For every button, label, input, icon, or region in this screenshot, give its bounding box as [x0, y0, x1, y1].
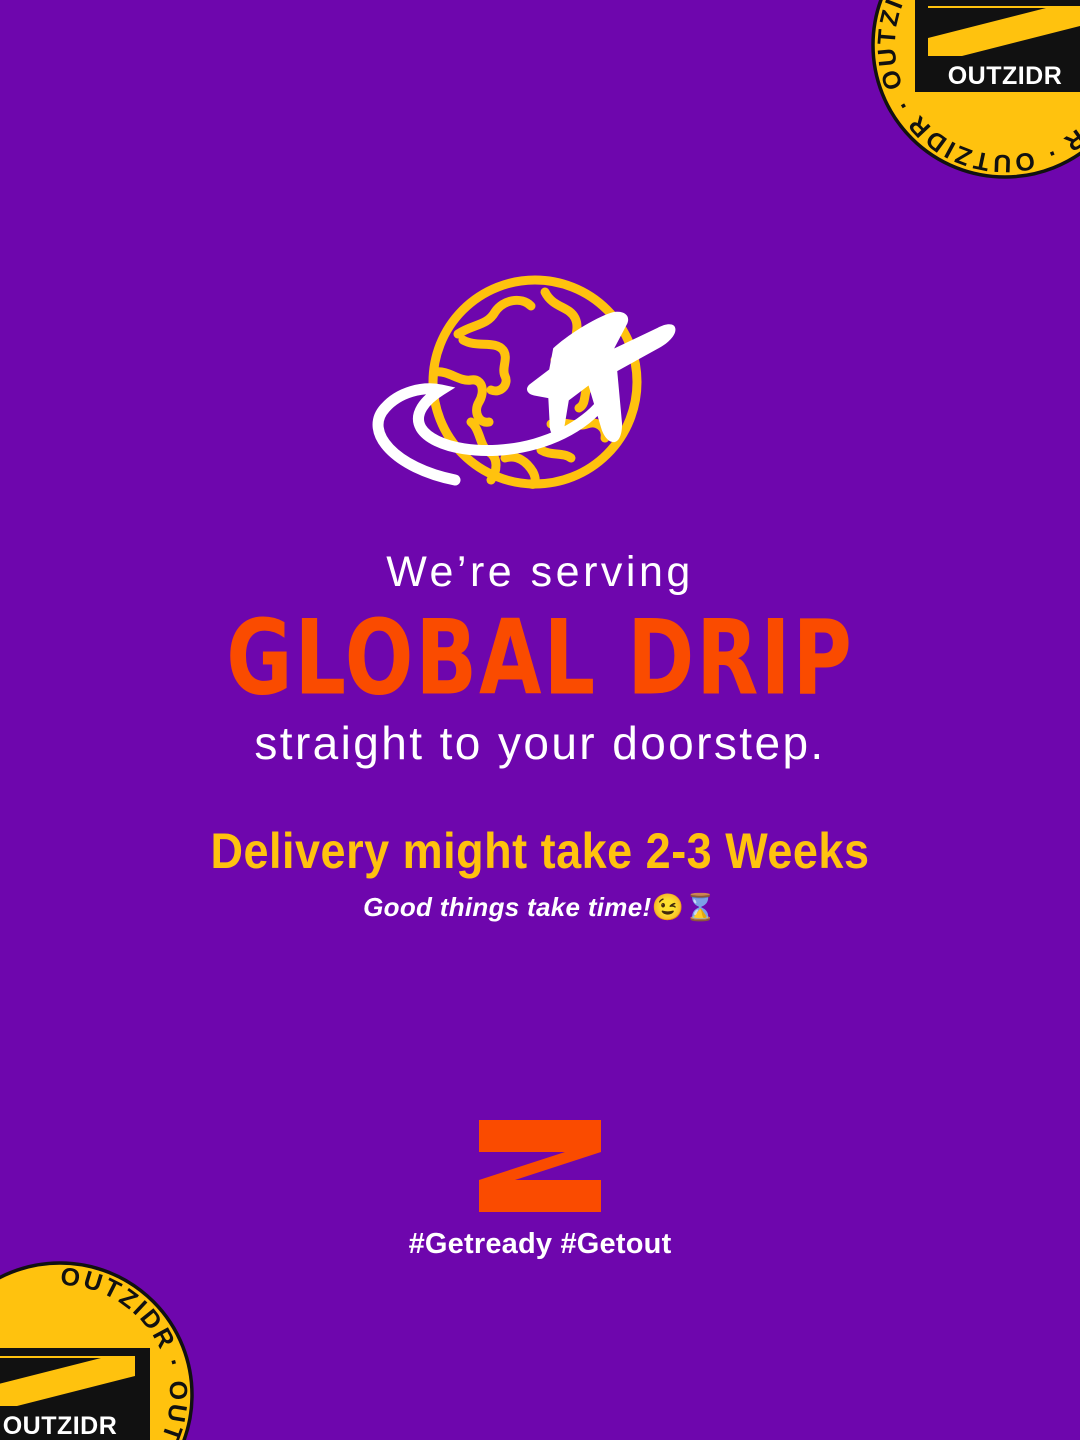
headline-line-3: straight to your doorstep.: [0, 717, 1080, 770]
headline-line-1: We’re serving: [0, 548, 1080, 597]
outzidr-sticker-top-right: OUTZIDR · OUTZIDR · OUTZIDR · OUTZIDR · …: [870, 0, 1080, 180]
outzidr-sticker-bottom-left: OUTZIDR · OUTZIDR · OUTZIDR · OUTZIDR · …: [0, 1260, 195, 1440]
headline-line-2-global-drip: GLOBAL DRIP: [0, 605, 1080, 711]
delivery-subtext: Good things take time!: [363, 892, 651, 922]
delivery-headline: Delivery might take 2-3 Weeks: [0, 822, 1080, 880]
footer-tagline: #Getready #Getout: [0, 1228, 1080, 1261]
badge-center-logo: OUTZIDR: [915, 0, 1080, 92]
headline-block: We’re serving GLOBAL DRIP straight to yo…: [0, 548, 1080, 770]
outzidr-z-mark-icon: [477, 1118, 603, 1214]
poster-canvas: OUTZIDR · OUTZIDR · OUTZIDR · OUTZIDR · …: [0, 0, 1080, 1440]
delivery-subtext-row: Good things take time!😉⌛: [0, 892, 1080, 923]
globe-airplane-illustration: [355, 272, 715, 517]
delivery-note-block: Delivery might take 2-3 Weeks Good thing…: [0, 822, 1080, 923]
hourglass-emoji-icon: ⌛: [684, 892, 717, 922]
footer-brand-block: #Getready #Getout: [0, 1118, 1080, 1261]
wink-face-emoji-icon: 😉: [651, 892, 684, 922]
badge-center-wordmark: OUTZIDR: [3, 1412, 118, 1440]
badge-center-wordmark: OUTZIDR: [948, 62, 1063, 90]
badge-center-logo: OUTZIDR: [0, 1348, 150, 1440]
